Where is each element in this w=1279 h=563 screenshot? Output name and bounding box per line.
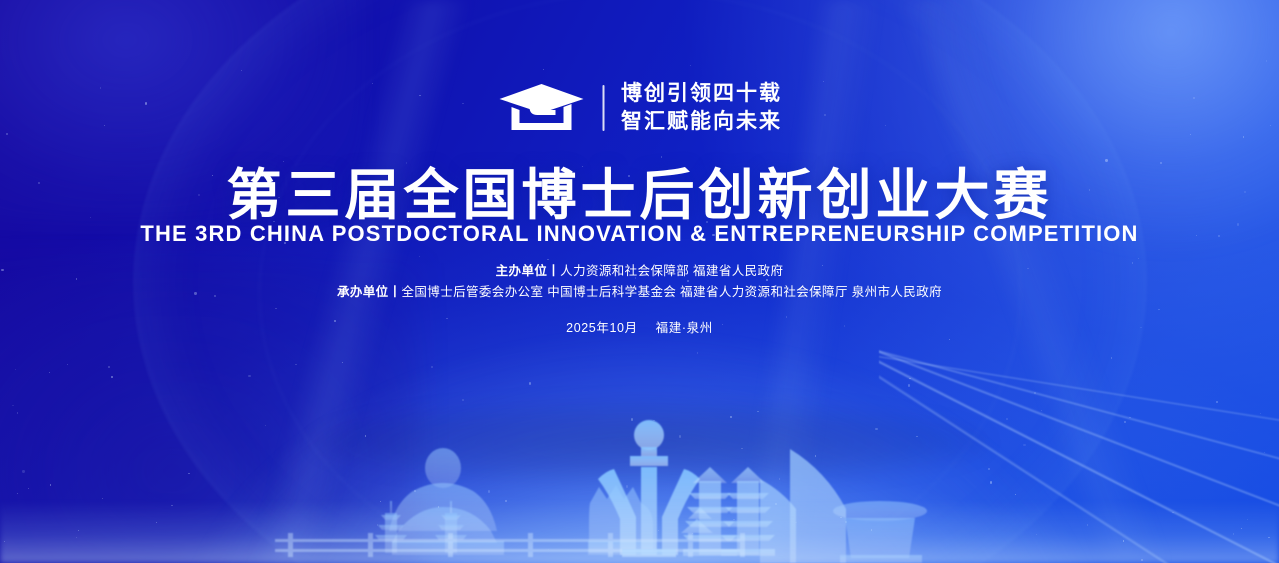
cloud-shadow	[310, 400, 990, 486]
stone-lion-icon	[588, 485, 656, 555]
host-line: 主办单位丨人力资源和社会保障部 福建省人民政府	[337, 261, 942, 282]
organizer-value: 全国博士后管委会办公室 中国博士后科学基金会 福建省人力资源和社会保障厅 泉州市…	[401, 285, 942, 299]
light-rays-bottom-right	[879, 323, 1279, 563]
pagoda-small-right-icon	[435, 501, 467, 553]
twin-pagoda-tall-left-icon	[681, 467, 737, 556]
lotus-column-monument-icon	[598, 420, 700, 557]
glow-center-bottom	[150, 315, 1130, 563]
poster-canvas: 博创引领四十载 智汇赋能向未来 第三届全国博士后创新创业大赛 THE 3RD C…	[0, 0, 1279, 563]
credits-block: 主办单位丨人力资源和社会保障部 福建省人民政府 承办单位丨全国博士后管委会办公室…	[337, 261, 942, 303]
glow-bottom-left	[0, 263, 420, 563]
organizer-separator: 丨	[389, 285, 402, 299]
organizer-label: 承办单位	[337, 285, 389, 299]
pagoda-small-left-icon	[375, 501, 407, 553]
host-label: 主办单位	[496, 264, 548, 278]
ground-glow	[0, 501, 1279, 563]
host-separator: 丨	[547, 264, 560, 278]
logo-lockup: 博创引领四十载 智汇赋能向未来	[497, 82, 782, 134]
skyline-silhouette	[0, 373, 1279, 563]
twin-pagoda-tall-right-icon	[721, 467, 775, 556]
event-date: 2025年10月	[566, 321, 638, 335]
host-value: 人力资源和社会保障部 福建省人民政府	[560, 264, 783, 278]
logo-slogan: 博创引领四十载 智汇赋能向未来	[621, 83, 782, 133]
lockup-divider	[602, 85, 604, 131]
page-title-chinese: 第三届全国博士后创新创业大赛	[226, 150, 1052, 230]
modern-tower-right-icon	[790, 449, 846, 563]
organizer-line: 承办单位丨全国博士后管委会办公室 中国博士后科学基金会 福建省人力资源和社会保障…	[337, 282, 942, 303]
modern-tower-left-icon	[760, 479, 796, 563]
page-title-english: THE 3RD CHINA POSTDOCTORAL INNOVATION & …	[140, 221, 1138, 247]
laojun-rock-statue-icon	[389, 448, 504, 555]
stadium-icon	[833, 501, 927, 563]
event-location: 福建·泉州	[656, 321, 713, 335]
slogan-line-2: 智汇赋能向未来	[621, 111, 782, 134]
slogan-line-1: 博创引领四十载	[621, 83, 782, 106]
graduation-cap-emblem-icon	[497, 82, 585, 134]
railing-fence-icon	[275, 533, 745, 557]
event-date-location: 2025年10月福建·泉州	[566, 317, 713, 336]
